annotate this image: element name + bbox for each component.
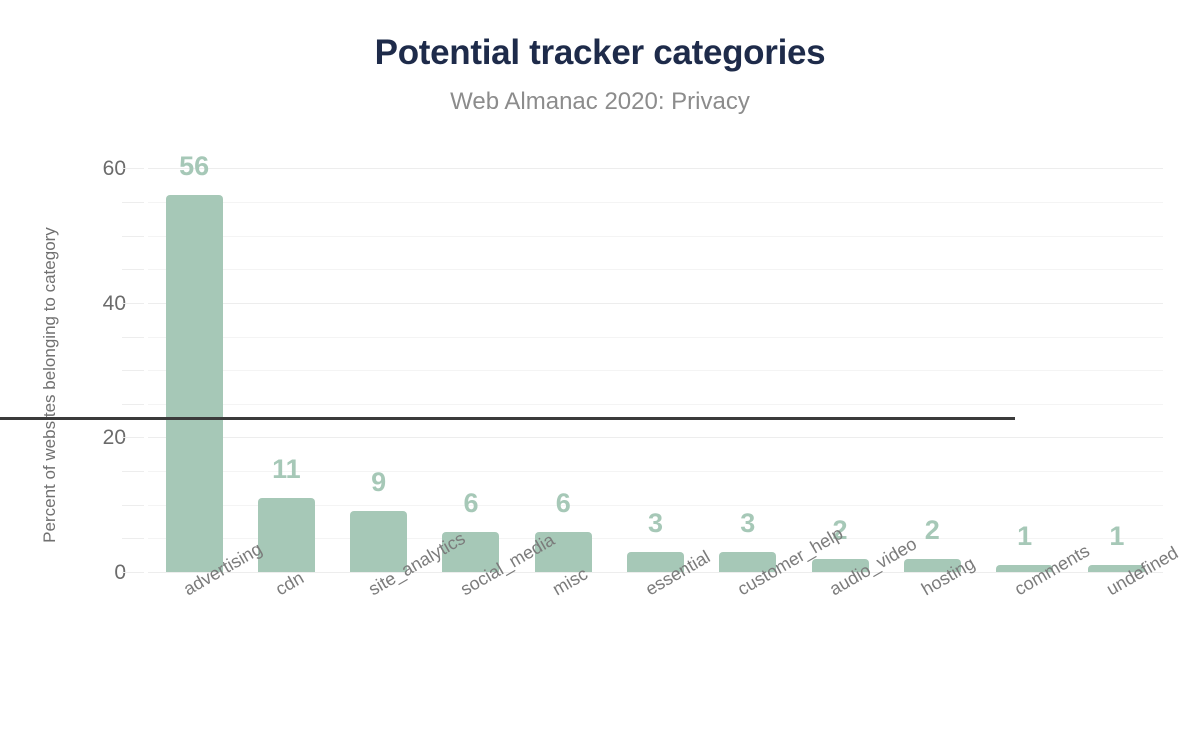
chart-subtitle: Web Almanac 2020: Privacy	[0, 87, 1200, 116]
bar-chart: Potential tracker categories Web Almanac…	[0, 0, 1200, 742]
y-axis-tick-mark	[122, 236, 144, 237]
gridline	[148, 370, 1163, 371]
y-axis-tick-label: 20	[66, 427, 126, 448]
y-axis-tick-mark	[122, 404, 144, 405]
y-axis-tick-mark	[122, 437, 144, 438]
gridline	[148, 404, 1163, 405]
y-axis-tick-label: 0	[66, 562, 126, 583]
bar-value-label: 56	[134, 153, 254, 180]
y-axis-tick-mark	[122, 370, 144, 371]
y-axis-tick-mark	[122, 572, 144, 573]
y-axis-tick-mark	[122, 202, 144, 203]
plot-area: 5611966332211	[148, 155, 1163, 572]
gridline	[148, 236, 1163, 237]
y-axis-tick-mark	[122, 505, 144, 506]
gridline	[148, 303, 1163, 304]
gridline	[148, 269, 1163, 270]
y-axis-tick-mark	[122, 303, 144, 304]
y-axis-tick-mark	[122, 471, 144, 472]
x-axis-baseline	[0, 417, 1015, 420]
y-axis-tick-mark	[122, 538, 144, 539]
gridline	[148, 437, 1163, 438]
y-axis-tick-mark	[122, 269, 144, 270]
bar[interactable]	[166, 195, 223, 572]
y-axis-tick-label: 60	[66, 158, 126, 179]
y-axis-tick-label: 40	[66, 293, 126, 314]
chart-title: Potential tracker categories	[0, 31, 1200, 75]
y-axis-title: Percent of websites belonging to categor…	[40, 160, 60, 610]
y-axis-tick-mark	[122, 337, 144, 338]
gridline	[148, 337, 1163, 338]
bar[interactable]	[258, 498, 315, 572]
gridline	[148, 202, 1163, 203]
gridline	[148, 168, 1163, 169]
